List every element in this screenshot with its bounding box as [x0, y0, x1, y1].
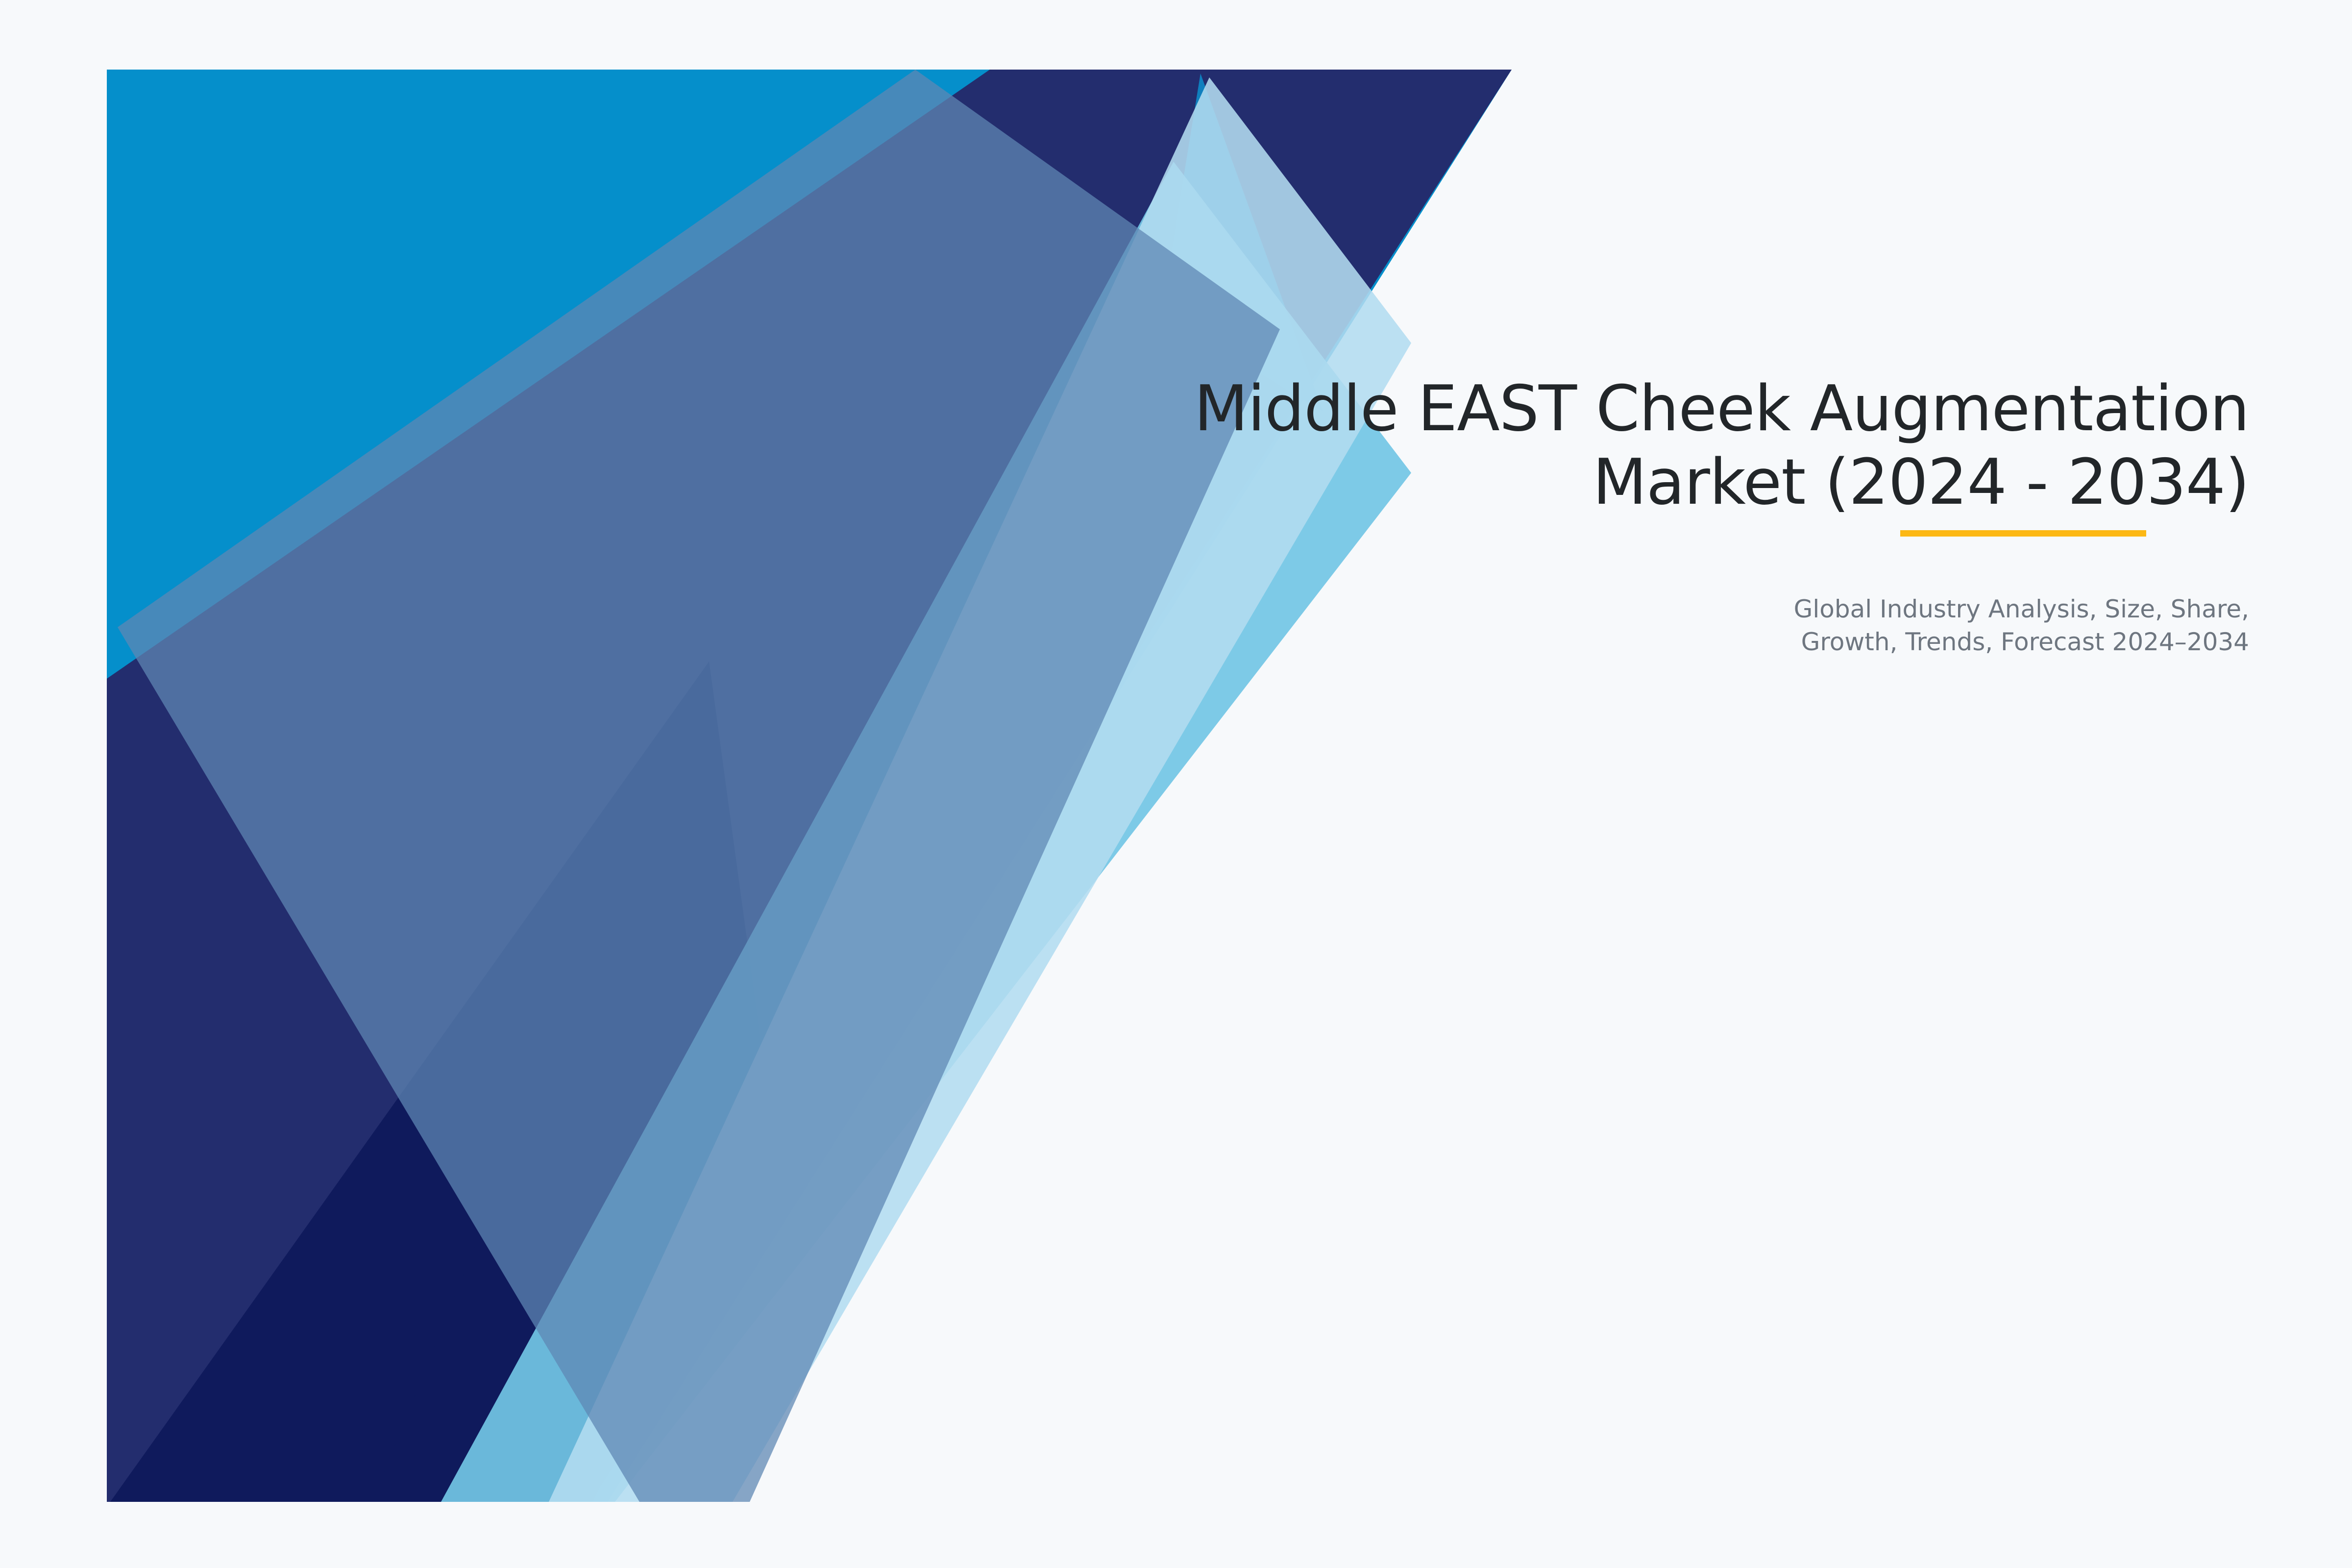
page-subtitle: Global Industry Analysis, Size, Share, G… — [755, 593, 2249, 659]
shape-cyan-thin-spike — [1161, 73, 1323, 412]
shape-cyan-top-left-block — [107, 70, 1512, 1502]
shape-light-blue-diagonal-band — [441, 162, 1411, 1502]
title-underline-accent-bar — [1900, 530, 2146, 537]
shape-navy-top-sliver — [990, 70, 1215, 206]
shape-pale-blue-diagonal-band — [549, 77, 1411, 1502]
page-title: Middle EAST Cheek Augmentation Market (2… — [755, 372, 2249, 519]
shape-deep-navy-bottom-fill — [372, 661, 772, 1502]
shape-navy-upper-wedge — [107, 70, 1512, 1502]
shape-steel-blue-large-quad — [118, 70, 1280, 1502]
report-cover-page: Middle EAST Cheek Augmentation Market (2… — [0, 0, 2352, 1568]
shape-deep-navy-lower-spike — [110, 661, 772, 1502]
abstract-geometric-polygon-graphic — [0, 0, 2352, 1568]
cover-text-block: Middle EAST Cheek Augmentation Market (2… — [755, 372, 2249, 659]
